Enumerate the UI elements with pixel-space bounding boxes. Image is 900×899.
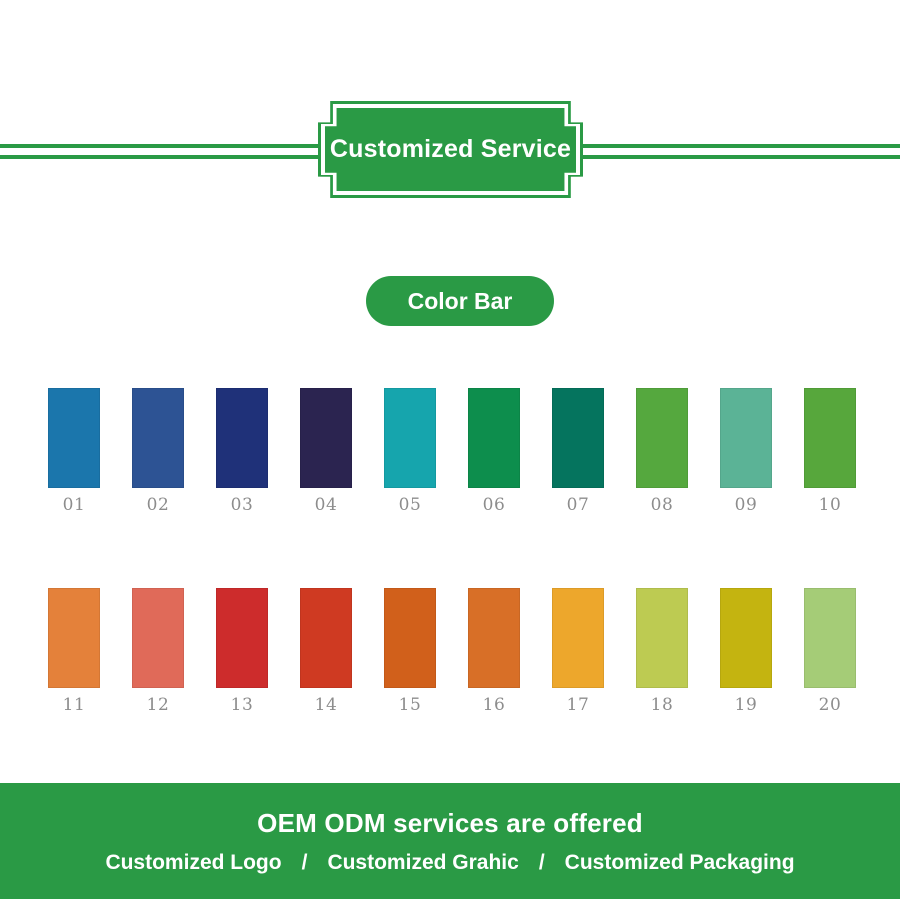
swatch-item[interactable]: 19 (720, 588, 772, 714)
color-bar-heading: Color Bar (366, 276, 554, 326)
swatch-chip[interactable] (300, 588, 352, 688)
footer-services-list: Customized Logo / Customized Grahic / Cu… (105, 851, 794, 875)
swatch-label: 09 (735, 497, 758, 514)
swatch-item[interactable]: 03 (216, 388, 268, 514)
swatch-grid-row-2: 11 12 13 14 15 16 17 18 (48, 588, 854, 714)
swatch-chip[interactable] (132, 388, 184, 488)
swatch-chip[interactable] (300, 388, 352, 488)
swatch-label: 08 (651, 497, 674, 514)
swatch-label: 14 (315, 697, 338, 714)
swatch-label: 10 (819, 497, 842, 514)
swatch-label: 15 (399, 697, 422, 714)
footer-separator: / (282, 851, 328, 875)
footer-headline: OEM ODM services are offered (257, 808, 643, 839)
swatch-row: 01 02 03 04 05 06 07 08 (48, 388, 854, 514)
swatch-item[interactable]: 14 (300, 588, 352, 714)
footer-service-graphic: Customized Grahic (327, 851, 518, 875)
swatch-item[interactable]: 08 (636, 388, 688, 514)
swatch-item[interactable]: 01 (48, 388, 100, 514)
swatch-label: 04 (315, 497, 338, 514)
swatch-label: 13 (231, 697, 254, 714)
header-banner: Customized Service (318, 101, 583, 198)
swatch-chip[interactable] (216, 588, 268, 688)
swatch-chip[interactable] (468, 388, 520, 488)
swatch-label: 17 (567, 697, 590, 714)
swatch-item[interactable]: 07 (552, 388, 604, 514)
swatch-chip[interactable] (720, 588, 772, 688)
swatch-item[interactable]: 05 (384, 388, 436, 514)
swatch-chip[interactable] (384, 388, 436, 488)
swatch-item[interactable]: 15 (384, 588, 436, 714)
page-title: Customized Service (318, 101, 583, 198)
swatch-chip[interactable] (804, 388, 856, 488)
footer-banner: OEM ODM services are offered Customized … (0, 783, 900, 899)
swatch-label: 16 (483, 697, 506, 714)
swatch-chip[interactable] (804, 588, 856, 688)
swatch-chip[interactable] (720, 388, 772, 488)
swatch-label: 19 (735, 697, 758, 714)
swatch-label: 18 (651, 697, 674, 714)
footer-service-logo: Customized Logo (105, 851, 281, 875)
swatch-label: 20 (819, 697, 842, 714)
swatch-item[interactable]: 11 (48, 588, 100, 714)
swatch-row: 11 12 13 14 15 16 17 18 (48, 588, 854, 714)
swatch-chip[interactable] (132, 588, 184, 688)
swatch-chip[interactable] (48, 388, 100, 488)
swatch-label: 01 (63, 497, 86, 514)
swatch-chip[interactable] (636, 588, 688, 688)
swatch-item[interactable]: 17 (552, 588, 604, 714)
swatch-chip[interactable] (636, 388, 688, 488)
swatch-label: 03 (231, 497, 254, 514)
swatch-label: 07 (567, 497, 590, 514)
swatch-item[interactable]: 20 (804, 588, 856, 714)
swatch-label: 05 (399, 497, 422, 514)
swatch-label: 02 (147, 497, 170, 514)
swatch-grid-row-1: 01 02 03 04 05 06 07 08 (48, 388, 854, 514)
swatch-chip[interactable] (384, 588, 436, 688)
swatch-chip[interactable] (552, 388, 604, 488)
swatch-item[interactable]: 04 (300, 388, 352, 514)
swatch-item[interactable]: 02 (132, 388, 184, 514)
swatch-item[interactable]: 09 (720, 388, 772, 514)
swatch-item[interactable]: 06 (468, 388, 520, 514)
footer-separator: / (519, 851, 565, 875)
swatch-item[interactable]: 12 (132, 588, 184, 714)
footer-service-packaging: Customized Packaging (565, 851, 795, 875)
swatch-label: 06 (483, 497, 506, 514)
swatch-item[interactable]: 16 (468, 588, 520, 714)
swatch-chip[interactable] (468, 588, 520, 688)
swatch-chip[interactable] (216, 388, 268, 488)
swatch-chip[interactable] (552, 588, 604, 688)
header-banner-area: Customized Service (0, 0, 900, 240)
swatch-label: 12 (147, 697, 170, 714)
swatch-item[interactable]: 10 (804, 388, 856, 514)
swatch-label: 11 (63, 697, 86, 714)
swatch-item[interactable]: 13 (216, 588, 268, 714)
swatch-item[interactable]: 18 (636, 588, 688, 714)
swatch-chip[interactable] (48, 588, 100, 688)
